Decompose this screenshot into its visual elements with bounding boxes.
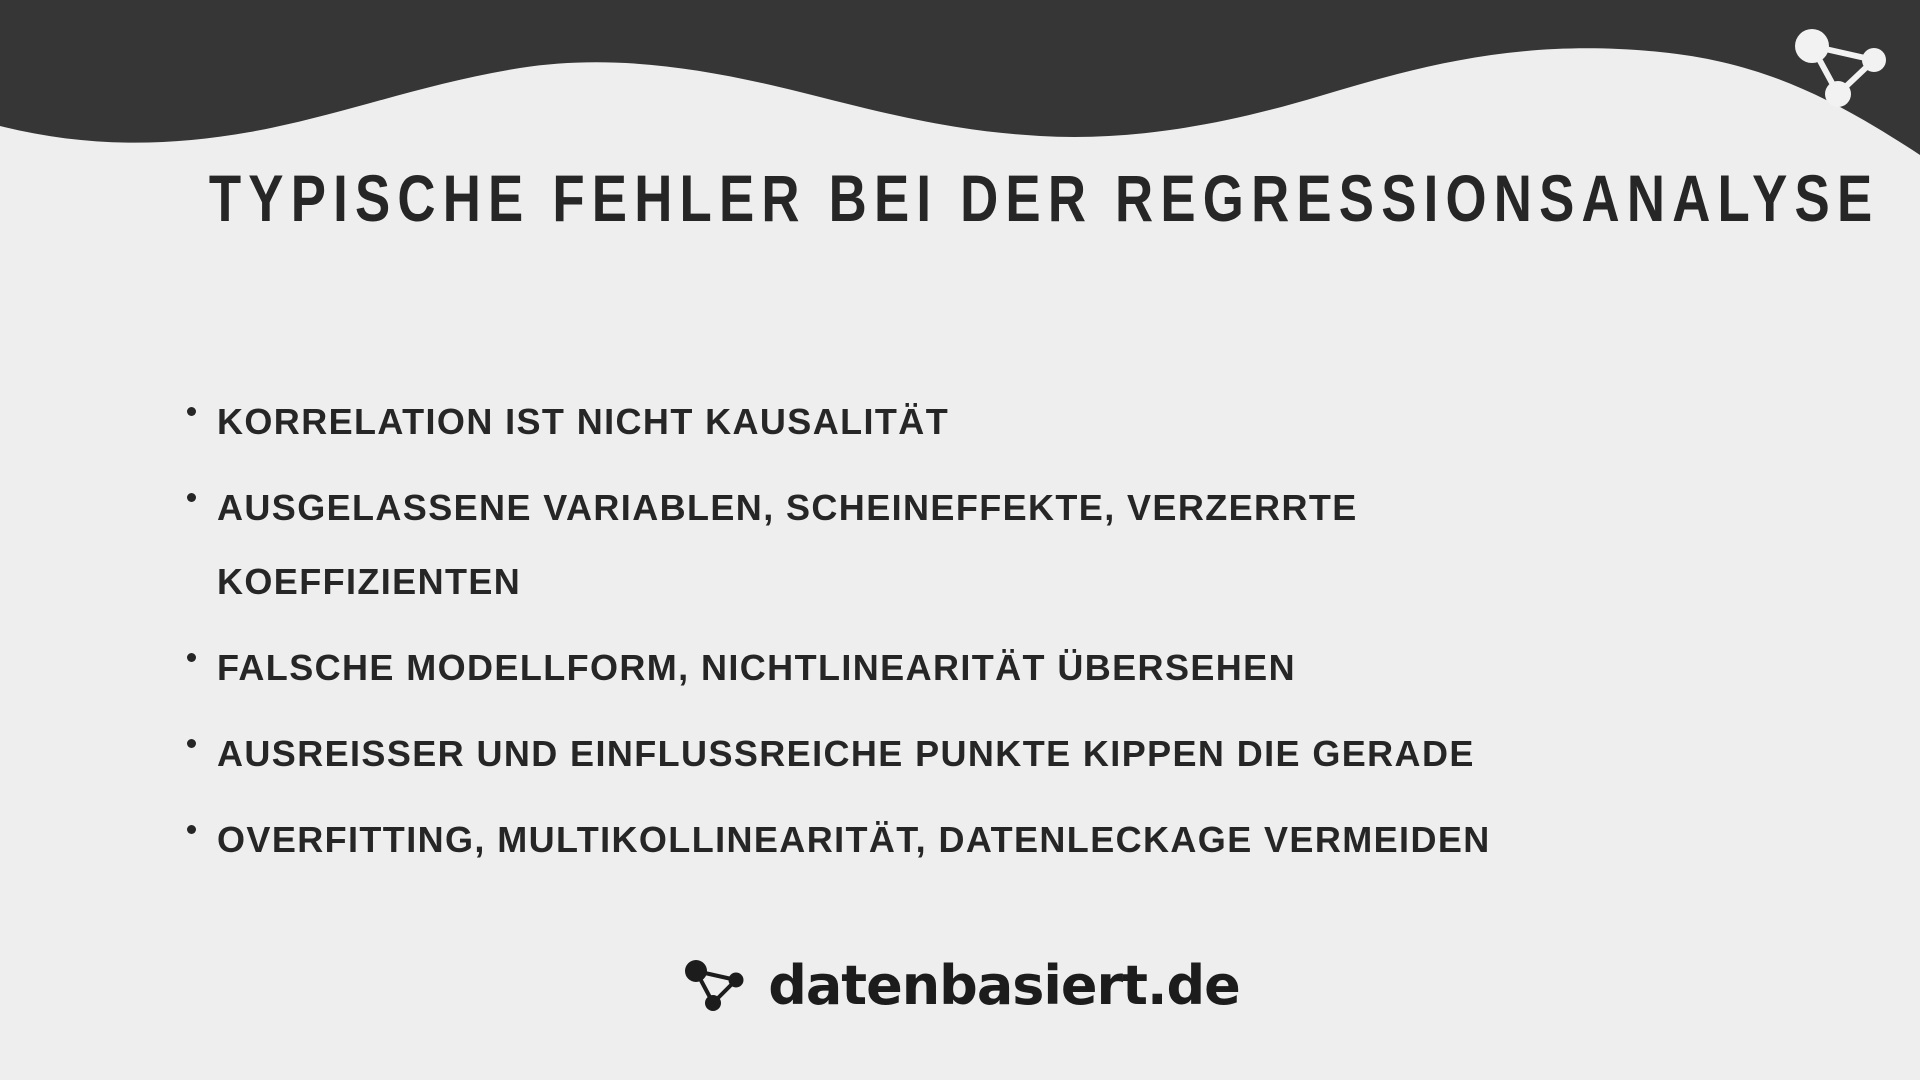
list-item: AUSREISSER UND EINFLUSSREICHE PUNKTE KIP… — [175, 717, 1795, 791]
list-item: OVERFITTING, MULTIKOLLINEARITÄT, DATENLE… — [175, 803, 1795, 877]
list-item-label: AUSREISSER UND EINFLUSSREICHE PUNKTE KIP… — [217, 717, 1795, 791]
list-item-label: KORRELATION IST NICHT KAUSALITÄT — [217, 385, 1795, 459]
list-item: AUSGELASSENE VARIABLEN, SCHEINEFFEKTE, V… — [175, 471, 1795, 619]
slide-canvas: TYPISCHE FEHLER BEI DER REGRESSIONSANALY… — [0, 0, 1920, 1080]
bullet-dot-icon — [187, 739, 196, 748]
list-item: KORRELATION IST NICHT KAUSALITÄT — [175, 385, 1795, 459]
network-graph-icon — [1786, 18, 1898, 114]
bullet-list: KORRELATION IST NICHT KAUSALITÄT AUSGELA… — [175, 385, 1795, 889]
list-item-label: OVERFITTING, MULTIKOLLINEARITÄT, DATENLE… — [217, 803, 1795, 877]
footer-brand: datenbasiert.de — [0, 955, 1920, 1017]
page-title-text: TYPISCHE FEHLER BEI DER REGRESSIONSANALY… — [209, 165, 1880, 231]
bullet-dot-icon — [187, 407, 196, 416]
bullet-dot-icon — [187, 493, 196, 502]
bullet-dot-icon — [187, 825, 196, 834]
network-graph-icon — [680, 955, 752, 1017]
footer-wordmark: datenbasiert.de — [768, 959, 1240, 1013]
list-item-label: FALSCHE MODELLFORM, NICHTLINEARITÄT ÜBER… — [217, 631, 1795, 705]
footer-logo — [680, 955, 752, 1017]
list-item-label: AUSGELASSENE VARIABLEN, SCHEINEFFEKTE, V… — [217, 471, 1795, 619]
bullet-dot-icon — [187, 653, 196, 662]
page-title: TYPISCHE FEHLER BEI DER REGRESSIONSANALY… — [0, 165, 1920, 231]
list-item: FALSCHE MODELLFORM, NICHTLINEARITÄT ÜBER… — [175, 631, 1795, 705]
header-logo — [1786, 18, 1898, 114]
